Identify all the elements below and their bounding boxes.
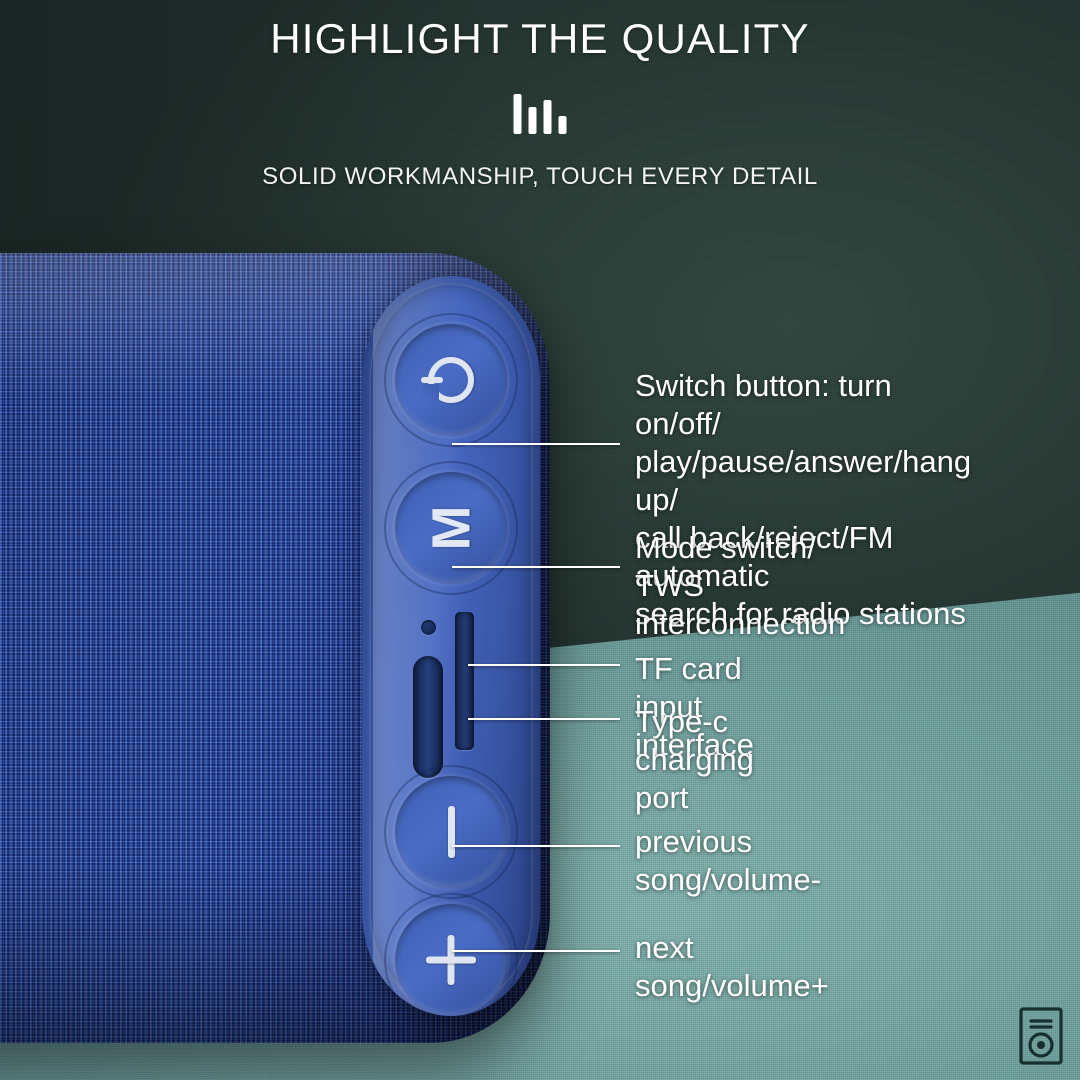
minus-icon [448, 806, 455, 858]
page-subtitle: SOLID WORKMANSHIP, TOUCH EVERY DETAIL [0, 161, 1080, 193]
volume-up-button[interactable] [395, 904, 507, 1016]
power-icon [428, 357, 474, 403]
mode-m-icon: M [424, 506, 478, 551]
leader-line-tf-card [468, 664, 620, 666]
plus-icon [424, 933, 478, 987]
speaker-cabinet-icon [1018, 1006, 1064, 1066]
volume-down-button[interactable] [395, 776, 507, 888]
tf-card-slot-icon[interactable] [455, 612, 474, 750]
usb-type-c-port-icon[interactable] [413, 656, 443, 778]
control-panel: M [362, 276, 540, 1016]
leader-line-type-c [468, 718, 620, 720]
equalizer-icon [514, 90, 567, 134]
power-button[interactable] [395, 324, 507, 436]
callout-next-song-label: next song/volume+ [635, 929, 829, 1005]
leader-line-mode-switch [452, 566, 620, 568]
product-infographic: ’ HIGHLIGHT THE QUALITY SOLID WORKMANSHI… [0, 0, 1080, 1080]
callout-mode-switch-label: Mode switch/ TWS interconnection [635, 529, 845, 643]
leader-line-switch-button [452, 443, 620, 445]
microphone-hole-icon [421, 620, 436, 635]
leader-line-next-song [452, 950, 620, 952]
page-title: HIGHLIGHT THE QUALITY [0, 14, 1080, 64]
callout-type-c-label: Type-c charging port [635, 703, 754, 817]
leader-line-previous-song [452, 845, 620, 847]
callout-previous-song-label: previous song/volume- [635, 823, 821, 899]
